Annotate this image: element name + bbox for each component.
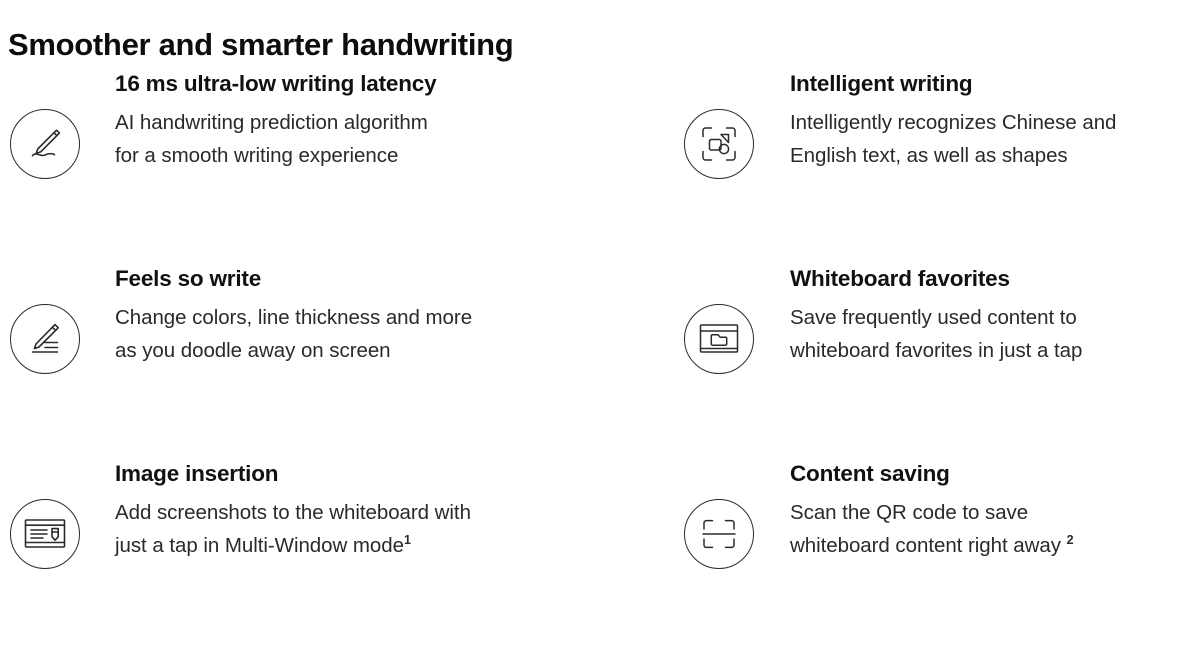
image-insert-card-icon [10, 499, 80, 569]
feature-text: Image insertion Add screenshots to the w… [115, 460, 615, 562]
feature-description: Scan the QR code to save whiteboard cont… [790, 496, 1200, 562]
feature-description-line-2: for a smooth writing experience [115, 144, 398, 167]
feature-description-line-2: as you doodle away on screen [115, 339, 391, 362]
feature-description: Intelligently recognizes Chinese and Eng… [790, 106, 1200, 172]
shape-recognition-scan-icon [684, 109, 754, 179]
feature-description-line-2: English text, as well as shapes [790, 144, 1068, 167]
feature-description-line-1: Add screenshots to the whiteboard with [115, 501, 471, 524]
feature-text: Whiteboard favorites Save frequently use… [790, 265, 1200, 367]
feature-grid-page: Smoother and smarter handwriting 16 ms u… [0, 0, 1200, 622]
feature-row: Feels so write Change colors, line thick… [0, 265, 1200, 460]
whiteboard-folder-icon [684, 304, 754, 374]
feature-description-line-1: AI handwriting prediction algorithm [115, 111, 428, 134]
feature-title: Feels so write [115, 265, 615, 293]
feature-text: Feels so write Change colors, line thick… [115, 265, 615, 367]
feature-row: 16 ms ultra-low writing latency AI handw… [0, 70, 1200, 265]
page-title: Smoother and smarter handwriting [8, 27, 513, 63]
feature-description: Add screenshots to the whiteboard with j… [115, 496, 615, 562]
feature-description: AI handwriting prediction algorithm for … [115, 106, 615, 172]
feature-description-line-1: Scan the QR code to save [790, 501, 1028, 524]
feature-text: 16 ms ultra-low writing latency AI handw… [115, 70, 615, 172]
feature-description-line-2: just a tap in Multi-Window mode [115, 534, 404, 557]
feature-title: Intelligent writing [790, 70, 1200, 98]
footnote-marker: 1 [404, 533, 411, 547]
feature-description-line-1: Save frequently used content to [790, 306, 1077, 329]
feature-text: Content saving Scan the QR code to save … [790, 460, 1200, 562]
feature-description-line-1: Intelligently recognizes Chinese and [790, 111, 1116, 134]
feature-title: Image insertion [115, 460, 615, 488]
feature-text: Intelligent writing Intelligently recogn… [790, 70, 1200, 172]
feature-title: Whiteboard favorites [790, 265, 1200, 293]
feature-title: Content saving [790, 460, 1200, 488]
feature-description-line-2: whiteboard favorites in just a tap [790, 339, 1082, 362]
feature-description-line-1: Change colors, line thickness and more [115, 306, 472, 329]
feature-description-line-2: whiteboard content right away [790, 534, 1067, 557]
features-grid: 16 ms ultra-low writing latency AI handw… [0, 70, 1200, 655]
qr-scan-icon [684, 499, 754, 569]
pencil-lines-icon [10, 304, 80, 374]
feature-row: Image insertion Add screenshots to the w… [0, 460, 1200, 655]
feature-description: Save frequently used content to whiteboa… [790, 301, 1200, 367]
feature-title: 16 ms ultra-low writing latency [115, 70, 615, 98]
feature-description: Change colors, line thickness and more a… [115, 301, 615, 367]
footnote-marker: 2 [1067, 533, 1074, 547]
pencil-stroke-icon [10, 109, 80, 179]
